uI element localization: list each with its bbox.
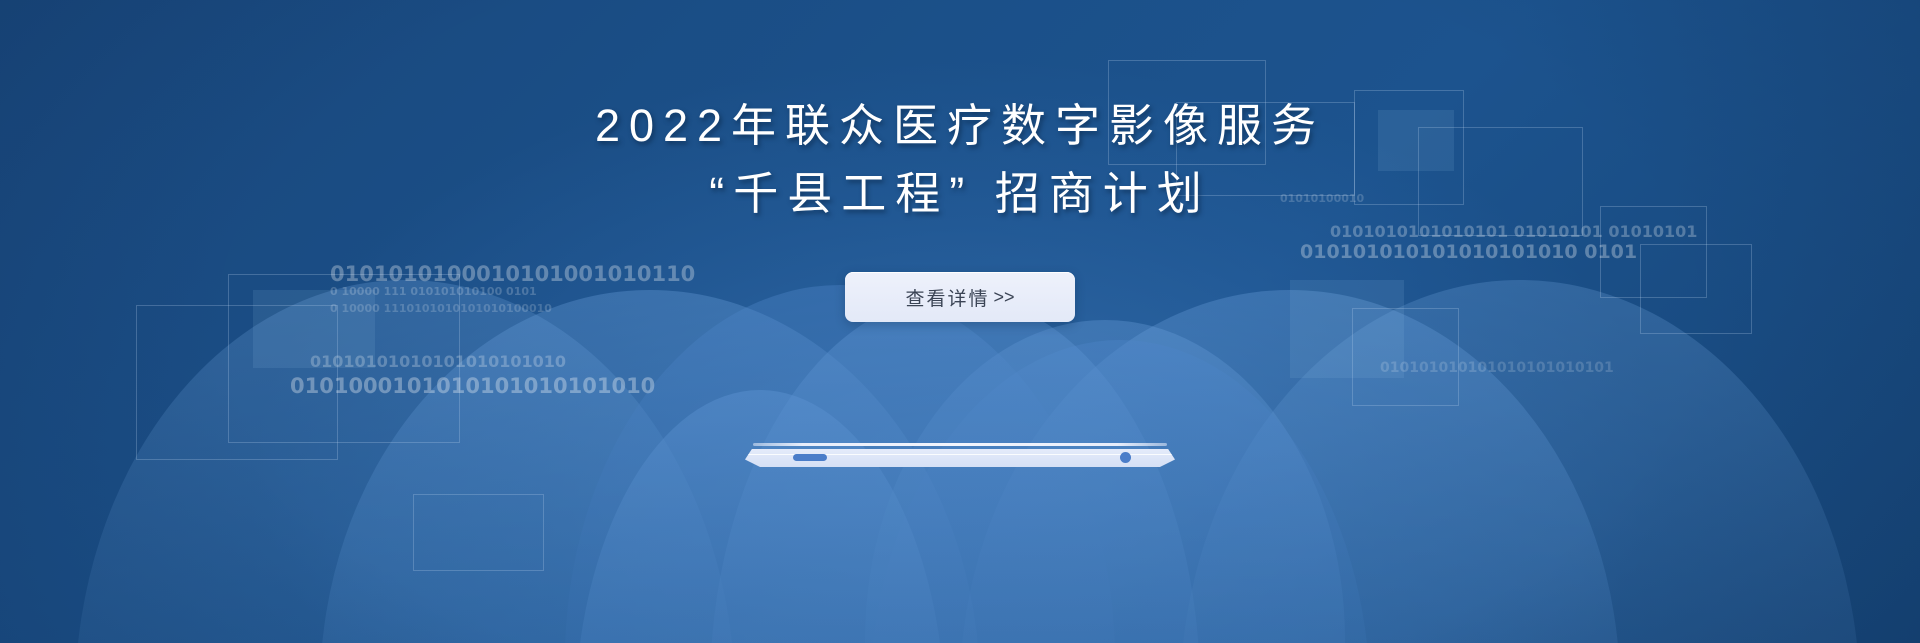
- title-line-2: “千县工程” 招商计划: [595, 160, 1325, 228]
- chevron-right-double-icon: >>: [993, 287, 1014, 308]
- banner-title: 2022年联众医疗数字影像服务 “千县工程” 招商计划: [595, 92, 1325, 228]
- laptop-device-illustration: [745, 443, 1175, 473]
- title-line-1: 2022年联众医疗数字影像服务: [595, 92, 1325, 160]
- laptop-indicator-pill: [793, 454, 827, 461]
- laptop-hinge: [753, 443, 1167, 446]
- laptop-indicator-dot: [1120, 452, 1131, 463]
- view-details-label: 查看详情: [905, 284, 989, 311]
- banner-content: 2022年联众医疗数字影像服务 “千县工程” 招商计划 查看详情 >>: [0, 0, 1920, 643]
- view-details-button[interactable]: 查看详情 >>: [845, 272, 1075, 322]
- promo-banner: 01010101000101010010101100 10000 111 010…: [0, 0, 1920, 643]
